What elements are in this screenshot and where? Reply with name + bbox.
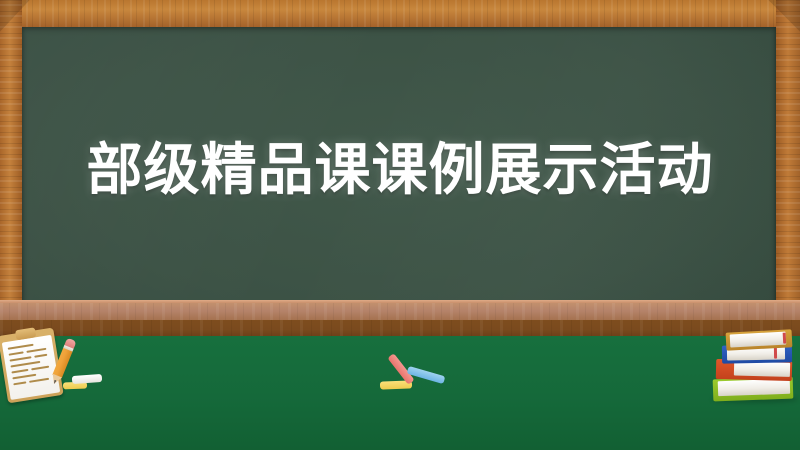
clipboard-line [31, 366, 49, 371]
clipboard-line [9, 351, 24, 356]
floor-background [0, 333, 800, 450]
clipboard-line [34, 354, 47, 358]
ledge-face [0, 303, 800, 320]
clipboard-line [11, 369, 28, 374]
clipboard-line [13, 381, 26, 385]
book-stack-icon [713, 330, 795, 402]
book-top [726, 329, 793, 350]
clipboard-icon [0, 327, 64, 403]
chalk-ledge [0, 300, 800, 336]
book-bookmark [783, 333, 787, 344]
slide-canvas: 部级精品课课例展示活动 [0, 0, 800, 450]
book-pages [718, 379, 790, 397]
ledge-under-shadow [0, 320, 800, 336]
clipboard-text-lines [8, 342, 55, 394]
clipboard-line [26, 348, 46, 353]
frame-top-rail [0, 0, 800, 27]
book-pages [734, 361, 790, 376]
clipboard-line [10, 356, 32, 362]
clipboard-line [29, 378, 49, 383]
page-title: 部级精品课课例展示活动 [0, 142, 800, 198]
clipboard-line [12, 374, 36, 380]
book-bookmark [774, 348, 777, 359]
